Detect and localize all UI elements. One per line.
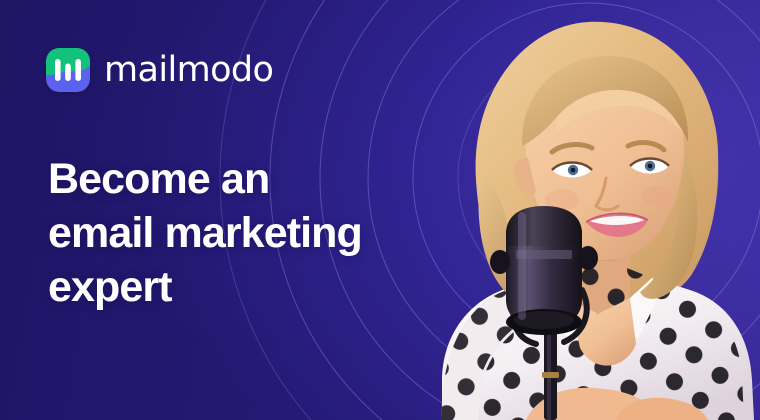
logo-mark-svg [46, 48, 90, 92]
brand-wordmark: mailmodo [104, 53, 273, 88]
brand-logo[interactable]: mailmodo [46, 48, 273, 92]
headline-line-3: expert [48, 260, 468, 314]
mailmodo-logo-mark [46, 48, 90, 92]
headline-line-2: email marketing [48, 206, 468, 260]
marketing-banner: mailmodo Become an email marketing exper… [0, 0, 760, 420]
page-title: Become an email marketing expert [48, 152, 468, 315]
cheek-right [641, 186, 671, 206]
headline-line-1: Become an [48, 152, 468, 206]
